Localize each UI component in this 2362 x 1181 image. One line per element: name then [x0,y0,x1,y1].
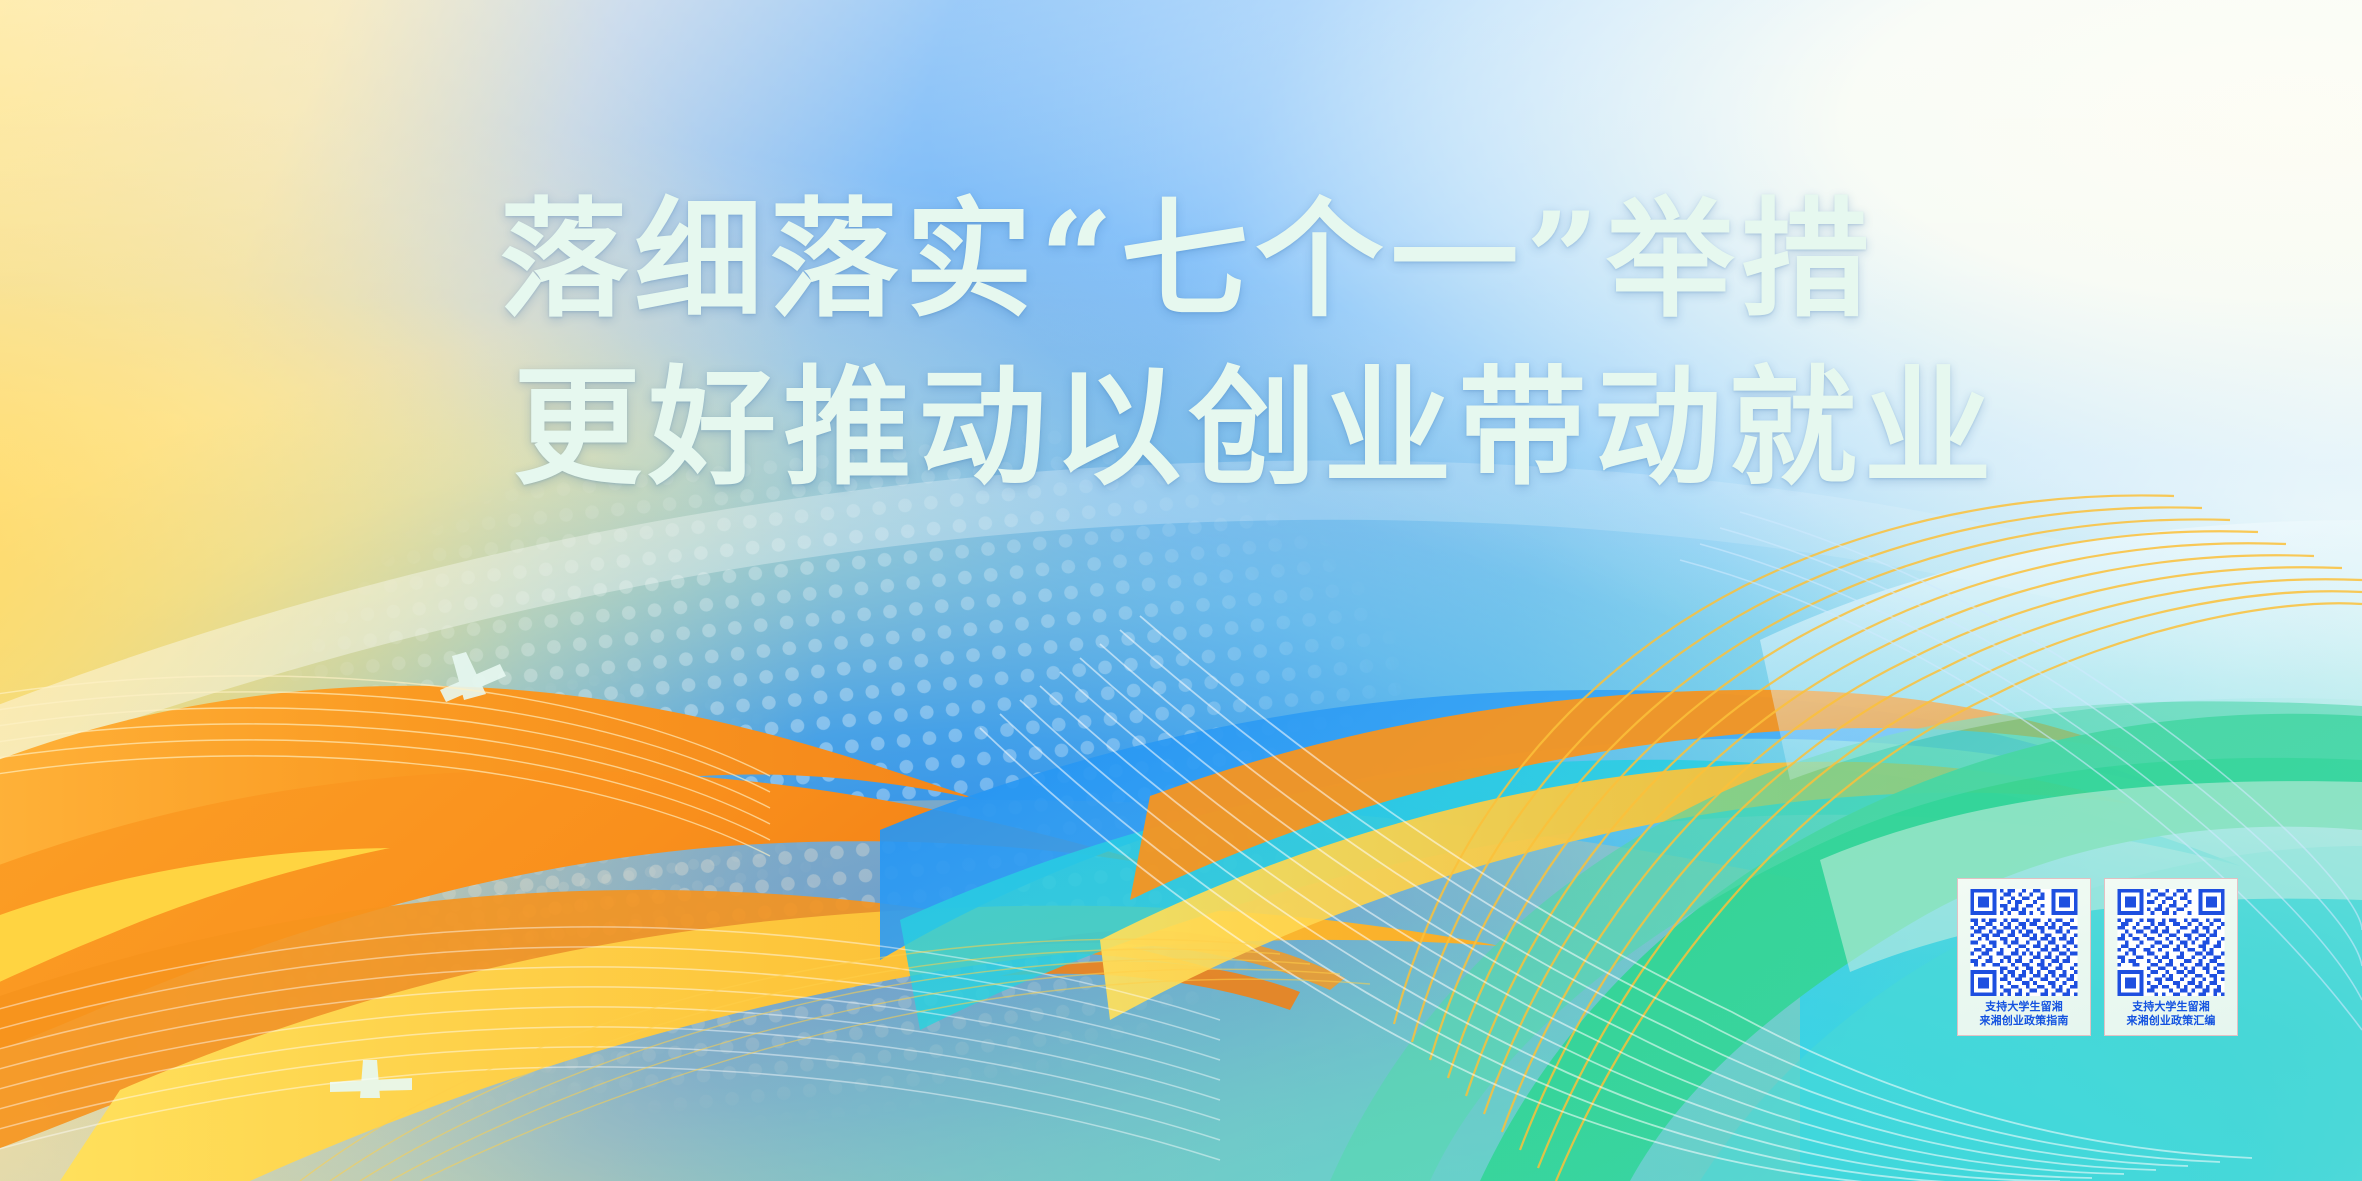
qr-code-icon[interactable] [1968,889,2080,996]
qr-card-policy-compilation[interactable]: 支持大学生留湘 来湘创业政策汇编 [2104,878,2238,1036]
qr-caption-policy-guide: 支持大学生留湘 来湘创业政策指南 [1980,1000,2069,1029]
qr-caption-policy-compilation: 支持大学生留湘 来湘创业政策汇编 [2127,1000,2216,1029]
qr-caption-line-2: 来湘创业政策汇编 [2127,1014,2216,1029]
qr-caption-line-2: 来湘创业政策指南 [1980,1014,2069,1029]
qr-code-icon[interactable] [2115,889,2227,996]
qr-caption-line-1: 支持大学生留湘 [2127,1000,2216,1015]
qr-caption-line-1: 支持大学生留湘 [1980,1000,2069,1015]
poster-canvas: 落细落实“七个一”举措 更好推动以创业带动就业 [0,0,2362,1181]
qr-card-policy-guide[interactable]: 支持大学生留湘 来湘创业政策指南 [1957,878,2091,1036]
qr-code-group: 支持大学生留湘 来湘创业政策指南 [1957,878,2238,1036]
